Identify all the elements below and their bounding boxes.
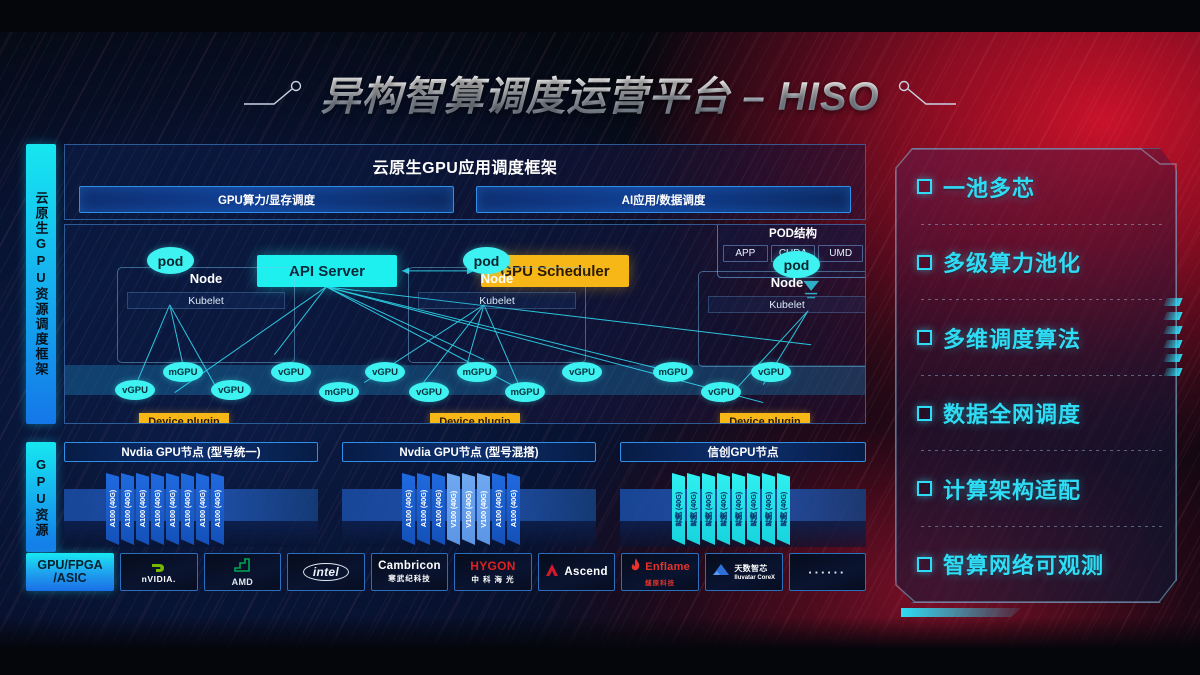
node-label-3: Node [699,275,866,290]
square-bullet-icon [917,406,932,421]
gpu-card: A100 (40G) [181,473,194,545]
pod-ellipse-3[interactable]: pod [773,251,820,278]
feature-panel: 一池多芯多级算力池化多维调度算法数据全网调度计算架构适配智算网络可观测 [895,148,1177,603]
gpu-group-2-body: A100 (40G)A100 (40G)A100 (40G)V100 (40G)… [342,465,596,549]
flame-icon [630,558,641,576]
feature-item-label: 计算架构适配 [943,473,1081,505]
side-label-gpu-resources: GPU资源 [26,442,56,552]
gpu-card-label: A100 (40G) [168,490,177,527]
gpu-card: A100 (40G) [196,473,209,545]
vgpu-ellipse-1b[interactable]: vGPU [211,380,251,400]
square-bullet-icon [917,330,932,345]
gpu-card-label: 昇腾 (40G) [778,492,789,527]
square-bullet-icon [917,179,932,194]
cambricon-label: Cambricon [378,560,441,572]
vendor-logo-amd[interactable]: AMD [204,553,282,591]
feature-divider [921,450,1163,451]
vgpu-ellipse-pool-1[interactable]: vGPU [271,362,311,382]
side-label-framework: 云原生GPU资源调度框架 [26,144,56,424]
framework-heading: 云原生GPU应用调度框架 [65,145,865,178]
gpu-card-label: 昇腾 (40G) [733,492,744,527]
kubelet-2: Kubelet [418,292,576,309]
amd-label: AMD [232,577,253,587]
gpu-card-label: 昇腾 (40G) [673,492,684,527]
mgpu-ellipse-pool-1[interactable]: mGPU [319,382,359,402]
mgpu-ellipse-2a[interactable]: mGPU [457,362,497,382]
mgpu-ellipse-2b[interactable]: mGPU [505,382,545,402]
gpu-card-label: V100 (40G) [464,491,473,528]
node-box-2: Node Kubelet [408,267,586,363]
mgpu-ellipse-1a[interactable]: mGPU [163,362,203,382]
vgpu-ellipse-3a[interactable]: vGPU [701,382,741,402]
gpu-card: 昇腾 (40G) [747,473,760,545]
node-box-3: Node Kubelet [698,271,866,367]
gpu-card-label: 昇腾 (40G) [763,492,774,527]
background-top-bar [0,0,1200,32]
ascend-label: Ascend [564,566,607,578]
vendor-logo-intel[interactable]: intel [287,553,365,591]
gpu-card-label: V100 (40G) [449,491,458,528]
k8s-scheduling-panel: API Server GPU Scheduler POD结构 APP CUDA … [64,224,866,424]
pod-cell-app: APP [723,245,768,262]
gpu-card: A100 (40G) [211,473,224,545]
gpu-card: 昇腾 (40G) [732,473,745,545]
title-area: 异构智算调度运营平台 – HISO [0,62,1200,124]
gpu-card-label: 昇腾 (40G) [688,492,699,527]
kubelet-3: Kubelet [708,296,866,313]
device-plugin-3[interactable]: Device plugin [720,413,810,424]
mountain-icon [712,563,730,581]
gpu-card-label: A100 (40G) [419,490,428,527]
feature-divider [921,299,1163,300]
gpu-card-label: A100 (40G) [434,490,443,527]
vendor-logo-ascend[interactable]: Ascend [538,553,616,591]
device-plugin-1[interactable]: Device plugin [139,413,229,424]
feature-list: 一池多芯多级算力池化多维调度算法数据全网调度计算架构适配智算网络可观测 [917,160,1167,591]
vendor-row-label: GPU/FPGA /ASIC [26,553,114,591]
iluvatar-sub: Iluvatar CoreX [734,575,775,581]
iluvatar-label: 天数智芯 [734,563,767,574]
gpu-card: A100 (40G) [166,473,179,545]
gpu-card: A100 (40G) [121,473,134,545]
gpu-card: 昇腾 (40G) [777,473,790,545]
gpu-card-label: 昇腾 (40G) [703,492,714,527]
feature-item-label: 智算网络可观测 [943,548,1104,580]
ascend-icon [545,563,560,582]
gpu-group-3-header: 信创GPU节点 [620,442,866,462]
gpu-card: A100 (40G) [507,473,520,545]
iluvatar-text: 天数智芯 Iluvatar CoreX [734,563,775,581]
vgpu-ellipse-2b[interactable]: vGPU [409,382,449,402]
pod-ellipse-2[interactable]: pod [463,247,510,274]
vendor-logo-hygon[interactable]: HYGON 中 科 海 光 [454,553,532,591]
gpu-card-label: 昇腾 (40G) [718,492,729,527]
gpu-card-stack-1: A100 (40G)A100 (40G)A100 (40G)A100 (40G)… [106,473,224,545]
square-bullet-icon [917,255,932,270]
vendor-logo-enflame[interactable]: Enflame 燧原科技 [621,553,699,591]
feature-item[interactable]: 一池多芯 [917,171,1167,203]
gpu-group-2-header: Nvdia GPU节点 (型号混搭) [342,442,596,462]
gpu-resource-row: Nvdia GPU节点 (型号统一) A100 (40G)A100 (40G)A… [64,442,866,552]
background-bottom-fade [0,617,1200,675]
side-label-framework-text: 云原生GPU资源调度框架 [35,191,48,377]
gpu-group-1-body: A100 (40G)A100 (40G)A100 (40G)A100 (40G)… [64,465,318,549]
title-decoration-left [244,76,306,110]
pill-gpu-compute-memory[interactable]: GPU算力/显存调度 [79,186,454,213]
gpu-card-label: 昇腾 (40G) [748,492,759,527]
pod-structure-title: POD结构 [718,224,866,241]
gpu-card-label: A100 (40G) [138,490,147,527]
gpu-card: A100 (40G) [432,473,445,545]
gpu-group-1-header: Nvdia GPU节点 (型号统一) [64,442,318,462]
feature-item-label: 数据全网调度 [943,397,1081,429]
gpu-card: V100 (40G) [447,473,460,545]
hygon-label: HYGON [470,559,516,573]
gpu-card: V100 (40G) [462,473,475,545]
node-label-1: Node [118,271,294,286]
architecture-diagram: 云原生GPU资源调度框架 GPU资源 云原生GPU应用调度框架 GPU算力/显存… [26,142,866,604]
feature-panel-bottom-accent [901,608,1021,617]
ascend-row: Ascend [545,563,607,582]
vendor-logo-row: GPU/FPGA /ASIC nVIDIA. AMD intel Cambric… [26,553,866,591]
feature-item[interactable]: 多级算力池化 [917,246,1167,278]
vendor-logo-nvidia[interactable]: nVIDIA. [120,553,198,591]
cambricon-sub: 寒武纪科技 [388,573,431,584]
gpu-group-1: Nvdia GPU节点 (型号统一) A100 (40G)A100 (40G)A… [64,442,318,550]
vendor-logo-more[interactable]: ······ [789,553,867,591]
page-title: 异构智算调度运营平台 – HISO [320,64,879,122]
feature-item-label: 一池多芯 [943,171,1035,203]
gpu-card-label: A100 (40G) [494,490,503,527]
gpu-card: A100 (40G) [492,473,505,545]
feature-divider [921,375,1163,376]
pill-ai-app-data[interactable]: AI应用/数据调度 [476,186,851,213]
mgpu-ellipse-3a[interactable]: mGPU [653,362,693,382]
title-decoration-right [894,76,956,110]
side-label-gpu-resources-text: GPU资源 [35,457,48,538]
gpu-card-label: A100 (40G) [183,490,192,527]
gpu-card: 昇腾 (40G) [762,473,775,545]
gpu-group-3-body: 昇腾 (40G)昇腾 (40G)昇腾 (40G)昇腾 (40G)昇腾 (40G)… [620,465,866,549]
gpu-group-3: 信创GPU节点 昇腾 (40G)昇腾 (40G)昇腾 (40G)昇腾 (40G)… [620,442,866,550]
kubelet-1: Kubelet [127,292,285,309]
enflame-label: Enflame [645,561,690,573]
gpu-card-label: V100 (40G) [479,491,488,528]
more-label: ······ [808,565,846,580]
gpu-card-stack-2: A100 (40G)A100 (40G)A100 (40G)V100 (40G)… [402,473,520,545]
k8s-inner: API Server GPU Scheduler POD结构 APP CUDA … [65,225,865,423]
pod-ellipse-1[interactable]: pod [147,247,194,274]
node-box-1: Node Kubelet [117,267,295,363]
gpu-card: A100 (40G) [417,473,430,545]
vendor-logo-cambricon[interactable]: Cambricon 寒武纪科技 [371,553,449,591]
gpu-card-label: A100 (40G) [509,490,518,527]
nvidia-label: nVIDIA. [142,574,176,584]
feature-item-label: 多级算力池化 [943,246,1081,278]
iluvatar-row: 天数智芯 Iluvatar CoreX [712,563,775,581]
gpu-card: 昇腾 (40G) [672,473,685,545]
feature-item[interactable]: 多维调度算法 [917,322,1167,354]
feature-item[interactable]: 计算架构适配 [917,473,1167,505]
gpu-card: A100 (40G) [151,473,164,545]
app-scheduling-framework-panel: 云原生GPU应用调度框架 GPU算力/显存调度 AI应用/数据调度 [64,144,866,220]
feature-divider [921,526,1163,527]
device-plugin-2[interactable]: Device plugin [430,413,520,424]
feature-item-label: 多维调度算法 [943,322,1081,354]
gpu-card: A100 (40G) [402,473,415,545]
gpu-card-label: A100 (40G) [404,490,413,527]
gpu-card: V100 (40G) [477,473,490,545]
intel-label: intel [303,563,349,581]
enflame-row: Enflame [630,558,690,576]
amd-icon [234,558,250,577]
feature-panel-ticks [1165,298,1181,384]
vendor-logo-iluvatar[interactable]: 天数智芯 Iluvatar CoreX [705,553,783,591]
gpu-group-2: Nvdia GPU节点 (型号混搭) A100 (40G)A100 (40G)A… [342,442,596,550]
gpu-card: 昇腾 (40G) [717,473,730,545]
gpu-card-label: A100 (40G) [213,490,222,527]
feature-divider [921,224,1163,225]
vgpu-ellipse-2a[interactable]: vGPU [365,362,405,382]
enflame-sub: 燧原科技 [645,577,675,587]
gpu-card-stack-3: 昇腾 (40G)昇腾 (40G)昇腾 (40G)昇腾 (40G)昇腾 (40G)… [672,473,790,545]
gpu-card: A100 (40G) [136,473,149,545]
square-bullet-icon [917,481,932,496]
gpu-card-label: A100 (40G) [198,490,207,527]
gpu-card: 昇腾 (40G) [687,473,700,545]
node-label-2: Node [409,271,585,286]
feature-item[interactable]: 数据全网调度 [917,397,1167,429]
gpu-card: 昇腾 (40G) [702,473,715,545]
gpu-card-label: A100 (40G) [108,490,117,527]
gpu-card: A100 (40G) [106,473,119,545]
vgpu-ellipse-3b[interactable]: vGPU [751,362,791,382]
feature-item[interactable]: 智算网络可观测 [917,548,1167,580]
square-bullet-icon [917,557,932,572]
vgpu-ellipse-pool-2[interactable]: vGPU [562,362,602,382]
gpu-card-label: A100 (40G) [153,490,162,527]
hygon-sub: 中 科 海 光 [471,574,514,585]
vendor-row-label-line2: /ASIC [53,572,86,585]
vgpu-ellipse-1a[interactable]: vGPU [115,380,155,400]
gpu-card-label: A100 (40G) [123,490,132,527]
nvidia-icon [150,561,167,574]
pod-cell-umd: UMD [818,245,863,262]
framework-pill-row: GPU算力/显存调度 AI应用/数据调度 [65,178,865,213]
